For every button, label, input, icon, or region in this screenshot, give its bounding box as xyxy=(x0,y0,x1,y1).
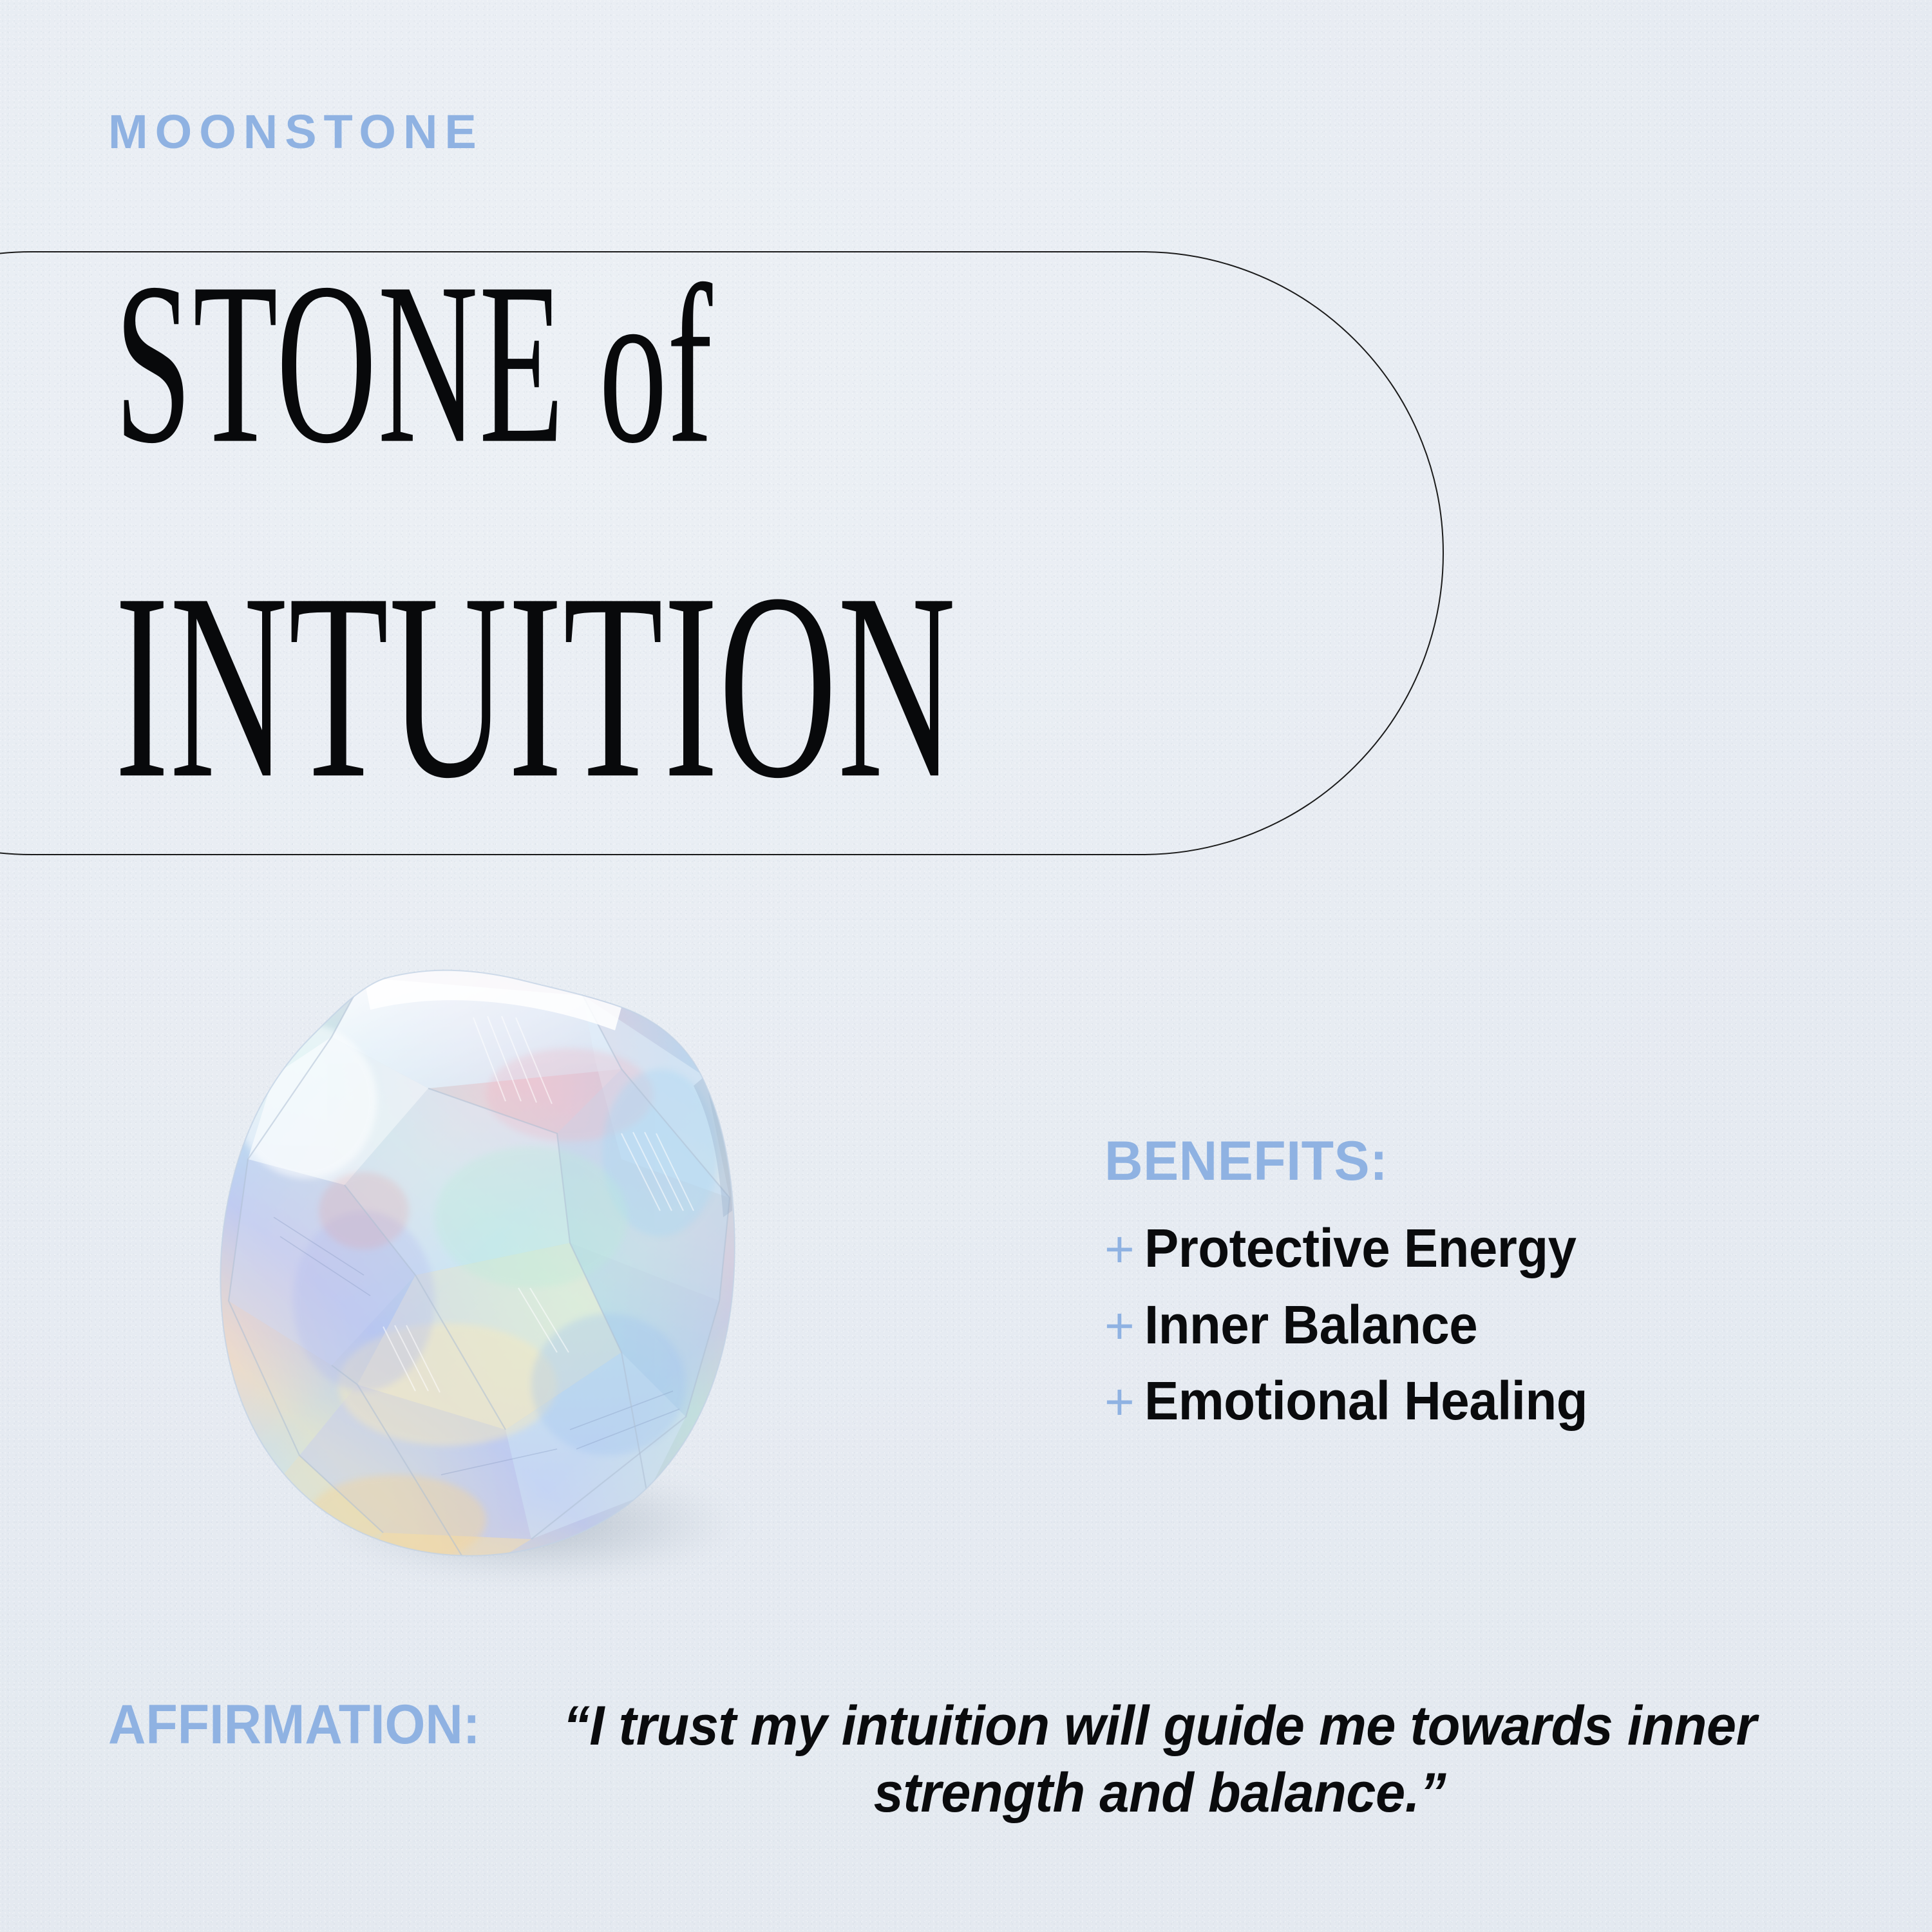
plus-icon: + xyxy=(1104,1222,1144,1276)
headline-line-2: INTUITION xyxy=(115,553,1145,819)
benefit-item-2: + Emotional Healing xyxy=(1104,1370,1845,1432)
benefit-label: Protective Energy xyxy=(1144,1217,1577,1280)
headline-line-1: STONE of xyxy=(115,247,1151,478)
poster-canvas: MOONSTONE STONE of INTUITION xyxy=(0,0,1932,1932)
plus-icon: + xyxy=(1104,1375,1144,1429)
moonstone-crystal-image xyxy=(171,940,802,1597)
affirmation-label: AFFIRMATION: xyxy=(108,1692,480,1757)
page-title: STONE of INTUITION xyxy=(115,277,1403,788)
benefit-item-1: + Inner Balance xyxy=(1104,1294,1845,1356)
benefit-label: Inner Balance xyxy=(1144,1294,1477,1356)
headline-word-stone: STONE xyxy=(115,234,565,491)
benefit-label: Emotional Healing xyxy=(1144,1370,1587,1432)
stone-category-label: MOONSTONE xyxy=(108,108,484,156)
affirmation-section: AFFIRMATION: “I trust my intuition will … xyxy=(108,1692,1860,1826)
affirmation-quote: “I trust my intuition will guide me towa… xyxy=(507,1692,1813,1826)
headline-word-of: of xyxy=(565,239,712,490)
benefits-heading: BENEFITS: xyxy=(1104,1133,1815,1189)
benefit-item-0: + Protective Energy xyxy=(1104,1217,1845,1280)
plus-icon: + xyxy=(1104,1299,1144,1353)
benefits-section: BENEFITS: + Protective Energy + Inner Ba… xyxy=(1104,1133,1845,1446)
